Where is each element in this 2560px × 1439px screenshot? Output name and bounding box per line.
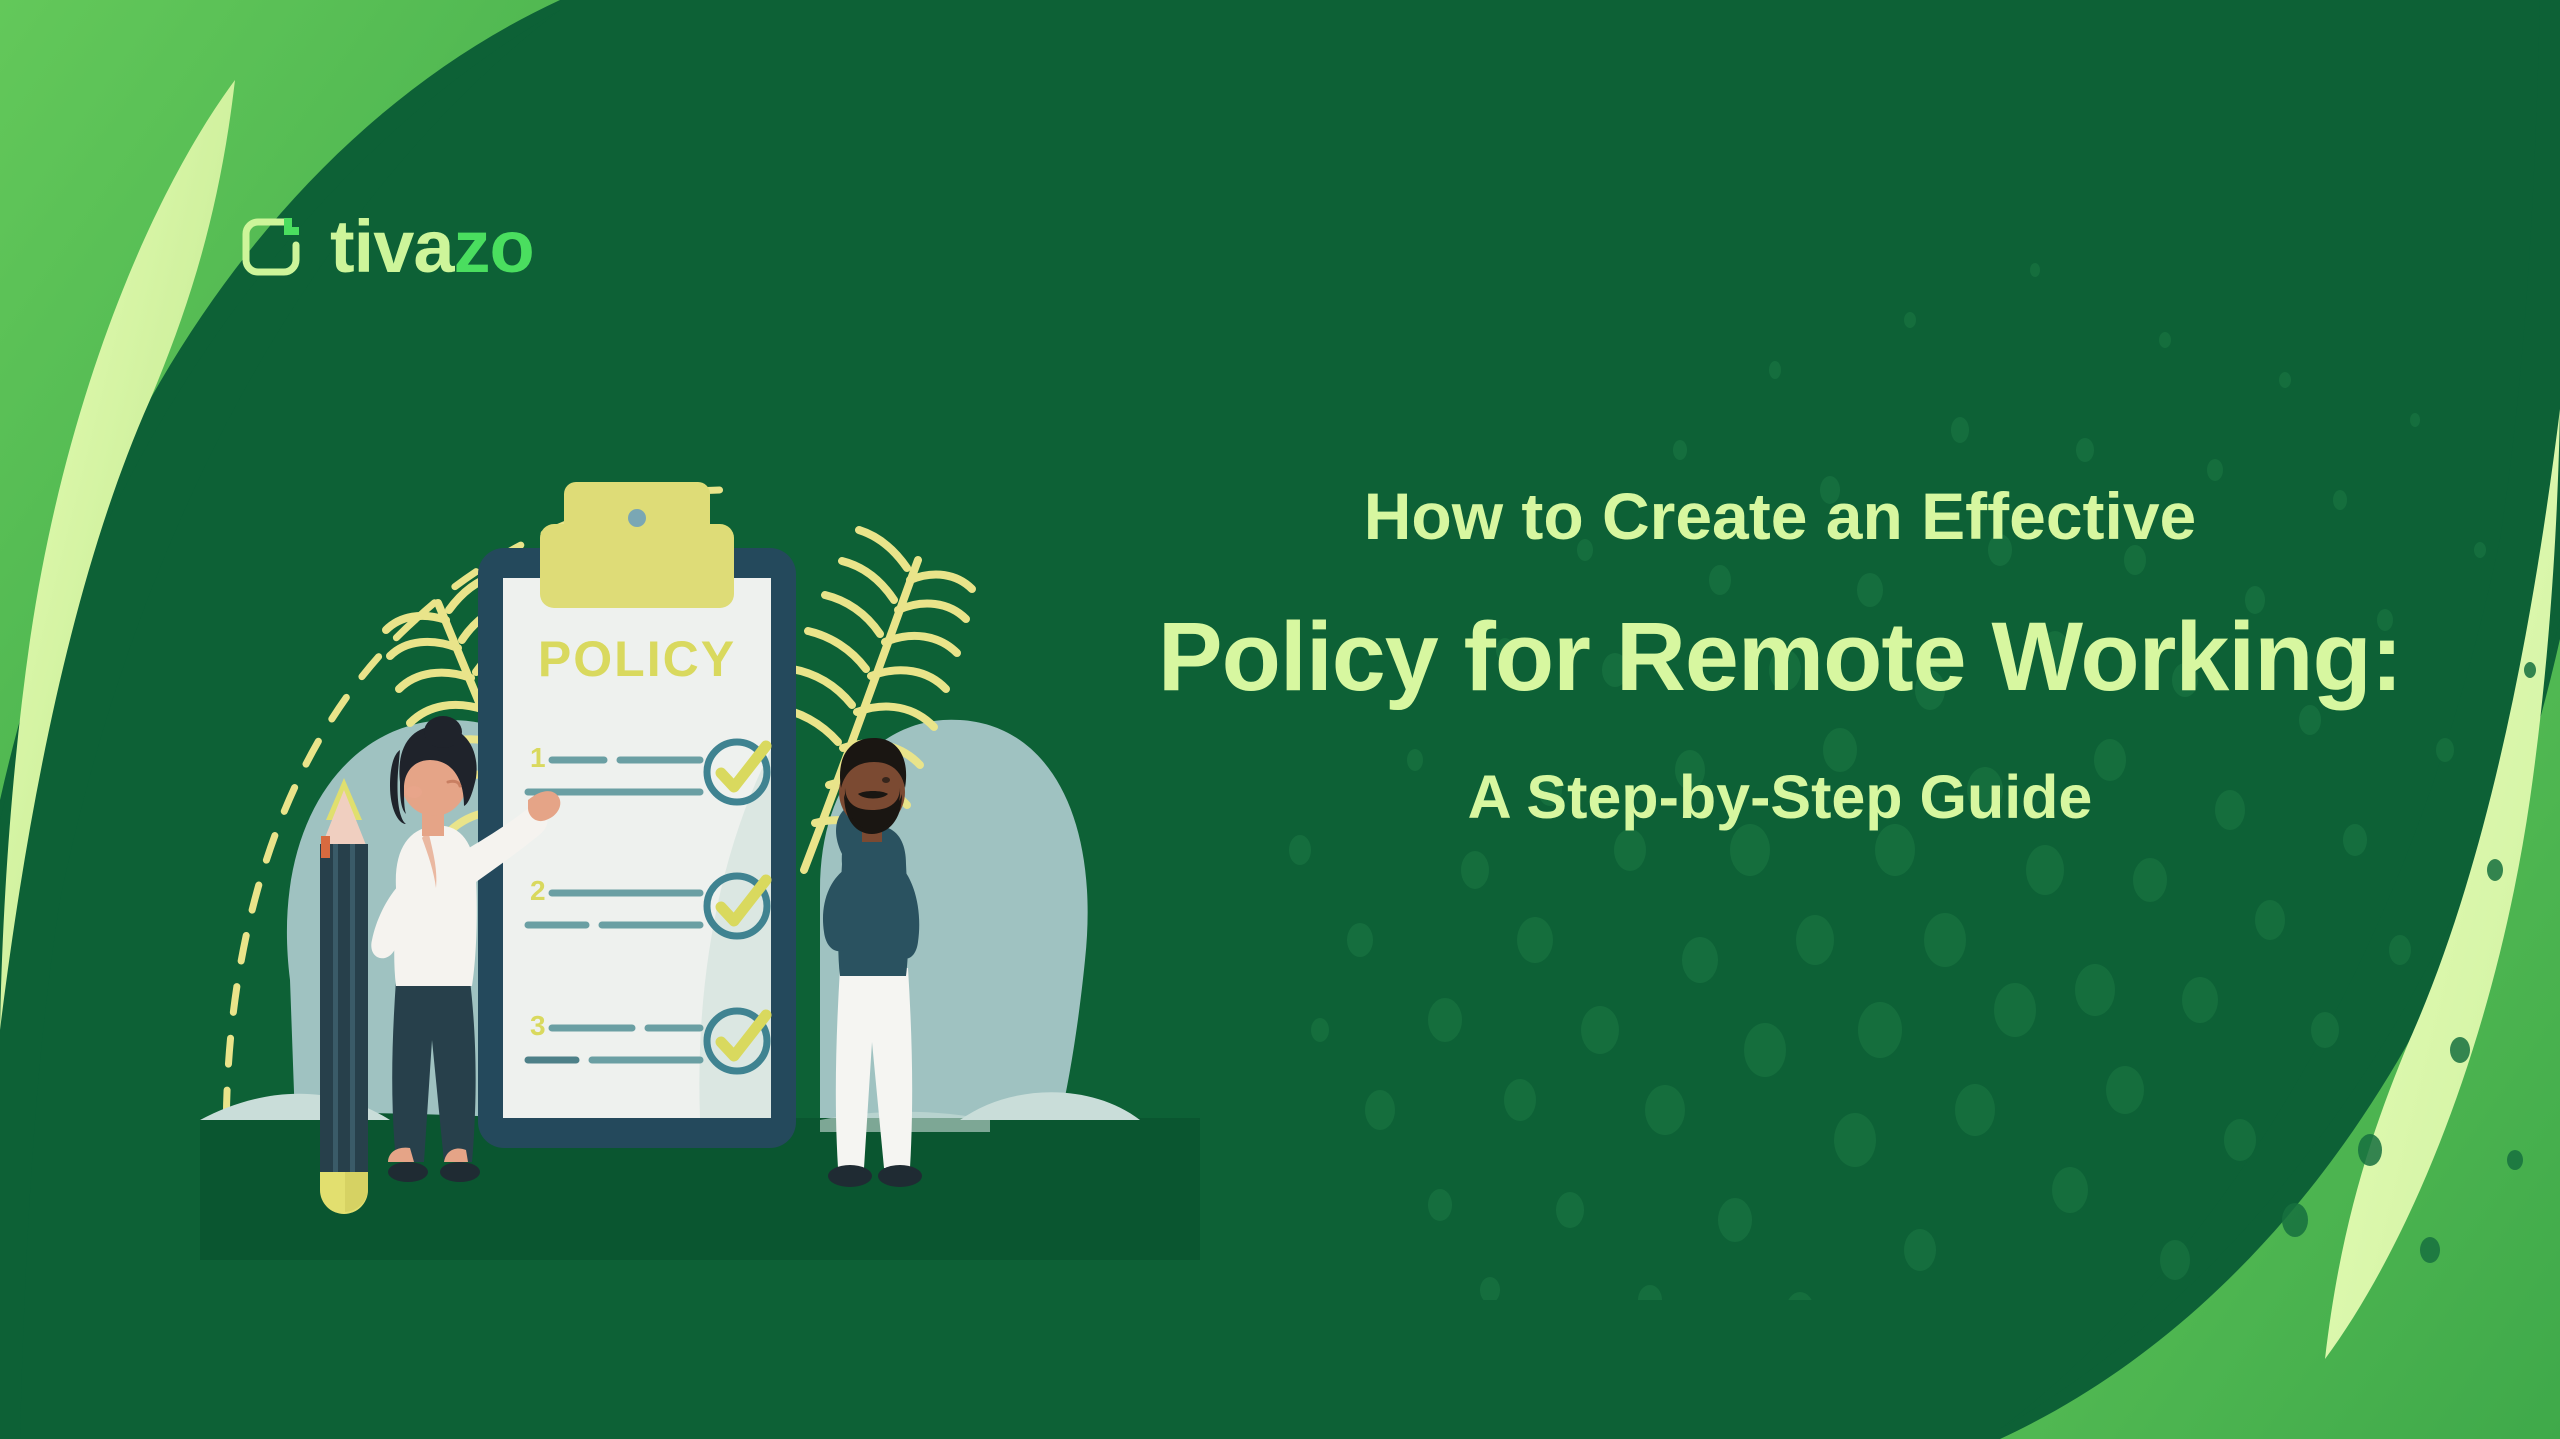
checklist-number: 1 <box>530 742 546 773</box>
bracket-square-icon <box>238 212 308 282</box>
checklist-number: 3 <box>530 1010 546 1041</box>
headline-line-3: A Step-by-Step Guide <box>1100 764 2460 831</box>
brand-name-part-2: zo <box>454 205 534 288</box>
clipboard-title: POLICY <box>538 631 736 687</box>
headline-block: How to Create an Effective Policy for Re… <box>1100 480 2460 831</box>
headline-line-2: Policy for Remote Working: <box>1100 601 2460 713</box>
brand-wordmark: tivazo <box>330 210 534 284</box>
checklist-number: 2 <box>530 875 546 906</box>
headline-line-1: How to Create an Effective <box>1100 480 2460 553</box>
poster-canvas: tivazo How to Create an Effective Policy… <box>0 0 2560 1439</box>
brand-name-part-1: tiva <box>330 205 454 288</box>
pencil-prop <box>320 778 368 1214</box>
brand-logo[interactable]: tivazo <box>238 210 534 284</box>
policy-clipboard-illustration: POLICY 1 2 3 <box>200 420 1200 1260</box>
